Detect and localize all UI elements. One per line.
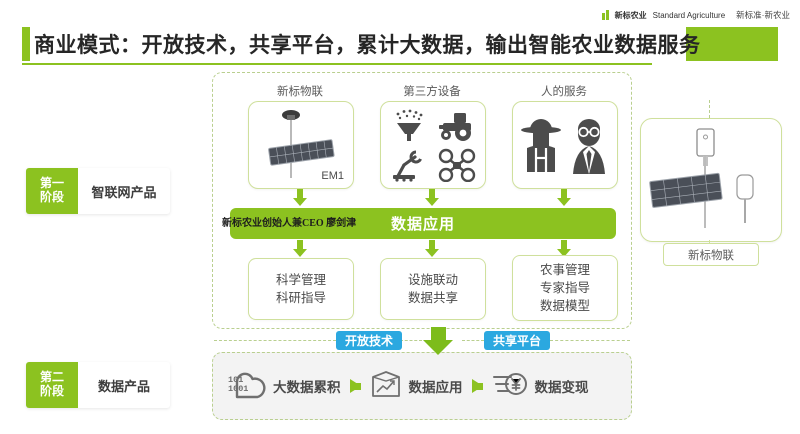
page-title: 商业模式：开放技术，共享平台，累计大数据，输出智能农业数据服务 [30, 29, 701, 59]
flow-label-data-application: 数据应用 [409, 376, 463, 396]
stage-number-line2: 阶段 [40, 385, 64, 399]
flow-step-monetization[interactable]: 数据变现 [492, 369, 589, 404]
arrow-down-large-icon [423, 327, 453, 355]
outcome-line: 数据模型 [540, 297, 590, 315]
dashed-connector [550, 340, 630, 341]
flow-label-monetization: 数据变现 [535, 376, 589, 396]
source-label-human: 人的服务 [512, 83, 616, 99]
cloud-bits-bottom: 1001 [228, 384, 248, 394]
brand-logo: 新标农业 Standard Agriculture 新标准·新农业 [602, 9, 790, 21]
outcome-line: 设施联动 [408, 271, 458, 289]
stage-number-line1: 第二 [40, 371, 64, 385]
ceo-caption-overlay: 新标农业创始人兼CEO 廖剑津 [222, 214, 356, 229]
stage-number-line1: 第一 [40, 177, 64, 191]
stage-chip-phase-two[interactable]: 第二 阶段 数据产品 [26, 362, 170, 408]
arrow-right-icon [472, 379, 483, 393]
stage-number-badge: 第二 阶段 [26, 362, 78, 408]
arrow-right-icon [350, 379, 361, 393]
outcome-line: 科研指导 [276, 289, 326, 307]
brand-name-en: Standard Agriculture [653, 11, 726, 20]
flow-step-data-application[interactable]: 数据应用 [370, 369, 463, 404]
badge-shared-platform[interactable]: 共享平台 [484, 331, 550, 350]
arrow-down-icon [425, 189, 439, 206]
brand-name-cn: 新标农业 [615, 10, 647, 21]
outcome-line: 数据共享 [408, 289, 458, 307]
outcome-box-facility-linkage[interactable]: 设施联动 数据共享 [380, 258, 486, 320]
solar-panel-icon [650, 173, 723, 207]
right-panel-connector [709, 100, 711, 118]
dashed-connector [400, 340, 422, 341]
stage-number-badge: 第一 阶段 [26, 168, 78, 214]
right-device-panel[interactable] [640, 118, 782, 242]
bar-mark-icon [602, 10, 609, 20]
arrow-down-icon [293, 189, 307, 206]
outcome-line: 专家指导 [540, 279, 590, 297]
device-card-human-service[interactable] [512, 101, 618, 189]
drone-icon [438, 148, 476, 182]
stage-chip-phase-one[interactable]: 第一 阶段 智联网产品 [26, 168, 170, 214]
dashed-connector [462, 340, 484, 341]
data-monetization-flow: 101 1001 大数据累积 数据应用 [228, 365, 618, 407]
cloud-binary-text: 101 1001 [228, 376, 248, 394]
badge-open-technology[interactable]: 开放技术 [336, 331, 402, 350]
outcome-line: 农事管理 [540, 261, 590, 279]
yen-coin-icon [492, 369, 528, 404]
right-panel-label: 新标物联 [663, 243, 759, 266]
robot-arm-icon [390, 148, 428, 182]
tractor-icon [437, 109, 477, 143]
slide-canvas: 新标农业 Standard Agriculture 新标准·新农业 商业模式：开… [0, 0, 800, 434]
arrow-down-icon [293, 240, 307, 257]
farmer-icon [519, 114, 563, 176]
dashed-connector [214, 340, 336, 341]
device-card-iot-station[interactable]: EM1 [248, 101, 354, 189]
stage-label-phase-two: 数据产品 [78, 362, 170, 408]
arrow-down-icon [425, 240, 439, 257]
iot-gateway-icon [641, 119, 781, 241]
flow-label-big-data: 大数据累积 [273, 376, 341, 396]
data-application-label: 数据应用 [391, 213, 455, 234]
outcome-box-science-management[interactable]: 科学管理 科研指导 [248, 258, 354, 320]
title-plate: 商业模式：开放技术，共享平台，累计大数据，输出智能农业数据服务 [30, 27, 686, 61]
source-label-third-party: 第三方设备 [380, 83, 484, 99]
flow-step-big-data[interactable]: 101 1001 大数据累积 [228, 372, 341, 400]
sensor-probe-icon [737, 175, 753, 223]
device-card-third-party[interactable] [380, 101, 486, 189]
expert-icon [567, 114, 611, 176]
outcome-line: 科学管理 [276, 271, 326, 289]
brand-slogan: 新标准·新农业 [736, 9, 790, 21]
cloud-data-icon: 101 1001 [228, 372, 266, 400]
stage-number-line2: 阶段 [40, 191, 64, 205]
source-label-iot: 新标物联 [248, 83, 352, 99]
arrow-down-icon [557, 189, 571, 206]
irrigation-sprinkler-icon [391, 109, 427, 143]
device-caption-em1: EM1 [321, 170, 344, 182]
stage-label-phase-one: 智联网产品 [78, 168, 170, 214]
title-underline [22, 63, 652, 65]
chart-box-icon [370, 369, 402, 404]
outcome-box-farm-management[interactable]: 农事管理 专家指导 数据模型 [512, 255, 618, 321]
